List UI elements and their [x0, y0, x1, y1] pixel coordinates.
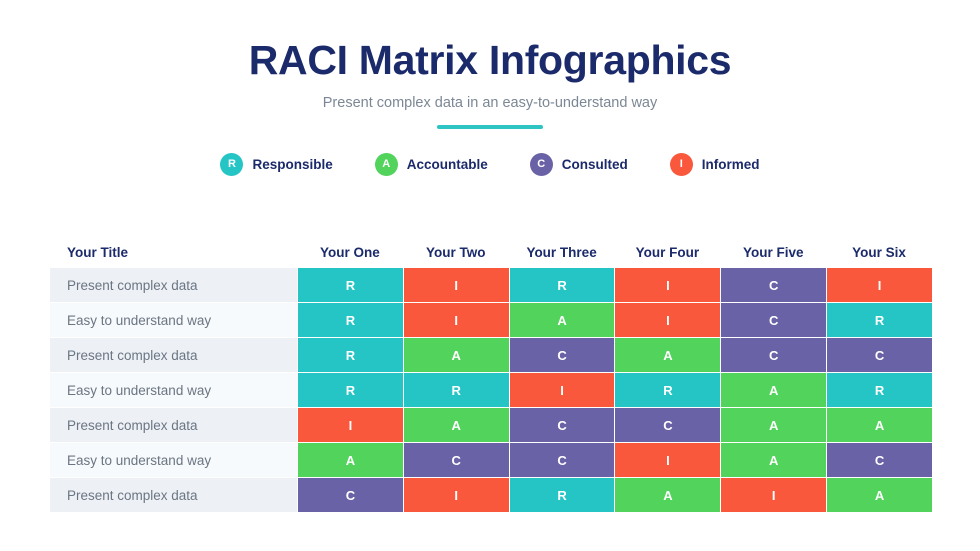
- legend-badge-a-icon: A: [375, 153, 398, 176]
- page-title: RACI Matrix Infographics: [0, 38, 980, 83]
- legend-badge-i-icon: I: [670, 153, 693, 176]
- matrix-cell[interactable]: A: [404, 338, 509, 372]
- matrix-cell[interactable]: A: [721, 373, 826, 407]
- row-label: Present complex data: [50, 408, 297, 442]
- matrix-cell[interactable]: I: [298, 408, 403, 442]
- legend-label: Responsible: [252, 157, 332, 172]
- legend-item-accountable[interactable]: AAccountable: [375, 153, 488, 176]
- matrix-cell[interactable]: C: [615, 408, 720, 442]
- matrix-cell[interactable]: A: [721, 408, 826, 442]
- table-row: Easy to understand wayRRIRAR: [50, 373, 932, 407]
- matrix-cell[interactable]: C: [510, 443, 615, 477]
- divider-wrap: [0, 125, 980, 129]
- matrix-cell[interactable]: I: [404, 268, 509, 302]
- legend-item-responsible[interactable]: RResponsible: [220, 153, 332, 176]
- table-row: Present complex dataRACACC: [50, 338, 932, 372]
- table-row: Present complex dataIACCAA: [50, 408, 932, 442]
- matrix-cell[interactable]: A: [827, 408, 932, 442]
- matrix-cell[interactable]: C: [827, 443, 932, 477]
- matrix-cell[interactable]: C: [721, 268, 826, 302]
- matrix-cell[interactable]: C: [510, 408, 615, 442]
- legend-badge-r-icon: R: [220, 153, 243, 176]
- slide-root: RACI Matrix Infographics Present complex…: [0, 0, 980, 551]
- table-row: Present complex dataCIRAIA: [50, 478, 932, 512]
- matrix-cell[interactable]: I: [510, 373, 615, 407]
- matrix-cell[interactable]: C: [827, 338, 932, 372]
- matrix-cell[interactable]: A: [404, 408, 509, 442]
- column-header-1: Your One: [297, 245, 403, 260]
- matrix-cell[interactable]: I: [615, 268, 720, 302]
- matrix-cell[interactable]: C: [404, 443, 509, 477]
- legend: RResponsibleAAccountableCConsultedIInfor…: [0, 153, 980, 176]
- matrix-cell[interactable]: A: [827, 478, 932, 512]
- matrix-cell[interactable]: I: [404, 478, 509, 512]
- row-label: Present complex data: [50, 478, 297, 512]
- matrix-cell[interactable]: A: [615, 338, 720, 372]
- legend-label: Informed: [702, 157, 760, 172]
- table-row: Present complex dataRIRICI: [50, 268, 932, 302]
- matrix-cell[interactable]: R: [510, 478, 615, 512]
- matrix-cell[interactable]: R: [615, 373, 720, 407]
- table-row: Easy to understand wayRIAICR: [50, 303, 932, 337]
- column-header-4: Your Four: [614, 245, 720, 260]
- row-label: Present complex data: [50, 268, 297, 302]
- matrix-cell[interactable]: I: [827, 268, 932, 302]
- matrix-cell[interactable]: I: [721, 478, 826, 512]
- matrix-cell[interactable]: R: [298, 338, 403, 372]
- matrix-cell[interactable]: C: [298, 478, 403, 512]
- accent-divider: [437, 125, 543, 129]
- matrix-cell[interactable]: R: [298, 268, 403, 302]
- matrix-header-row: Your Title Your OneYour TwoYour ThreeYou…: [50, 228, 932, 264]
- matrix-cell[interactable]: R: [510, 268, 615, 302]
- row-label: Easy to understand way: [50, 303, 297, 337]
- column-header-6: Your Six: [826, 245, 932, 260]
- matrix-cell[interactable]: C: [510, 338, 615, 372]
- legend-item-consulted[interactable]: CConsulted: [530, 153, 628, 176]
- legend-label: Accountable: [407, 157, 488, 172]
- row-label: Present complex data: [50, 338, 297, 372]
- matrix-cell[interactable]: R: [298, 303, 403, 337]
- matrix-body: Present complex dataRIRICIEasy to unders…: [50, 268, 932, 512]
- matrix-cell[interactable]: R: [298, 373, 403, 407]
- matrix-cell[interactable]: I: [615, 443, 720, 477]
- matrix-cell[interactable]: A: [721, 443, 826, 477]
- page-subtitle: Present complex data in an easy-to-under…: [0, 95, 980, 111]
- matrix-cell[interactable]: A: [298, 443, 403, 477]
- legend-item-informed[interactable]: IInformed: [670, 153, 760, 176]
- row-label: Easy to understand way: [50, 373, 297, 407]
- raci-matrix: Your Title Your OneYour TwoYour ThreeYou…: [50, 228, 932, 512]
- column-header-title: Your Title: [50, 245, 297, 260]
- row-label: Easy to understand way: [50, 443, 297, 477]
- matrix-cell[interactable]: R: [404, 373, 509, 407]
- table-row: Easy to understand wayACCIAC: [50, 443, 932, 477]
- matrix-cell[interactable]: R: [827, 303, 932, 337]
- matrix-cell[interactable]: R: [827, 373, 932, 407]
- matrix-cell[interactable]: A: [615, 478, 720, 512]
- column-header-2: Your Two: [403, 245, 509, 260]
- matrix-cell[interactable]: C: [721, 303, 826, 337]
- legend-label: Consulted: [562, 157, 628, 172]
- matrix-cell[interactable]: I: [615, 303, 720, 337]
- legend-badge-c-icon: C: [530, 153, 553, 176]
- header: RACI Matrix Infographics Present complex…: [0, 0, 980, 129]
- matrix-cell[interactable]: C: [721, 338, 826, 372]
- matrix-cell[interactable]: A: [510, 303, 615, 337]
- column-header-3: Your Three: [509, 245, 615, 260]
- matrix-cell[interactable]: I: [404, 303, 509, 337]
- column-header-5: Your Five: [720, 245, 826, 260]
